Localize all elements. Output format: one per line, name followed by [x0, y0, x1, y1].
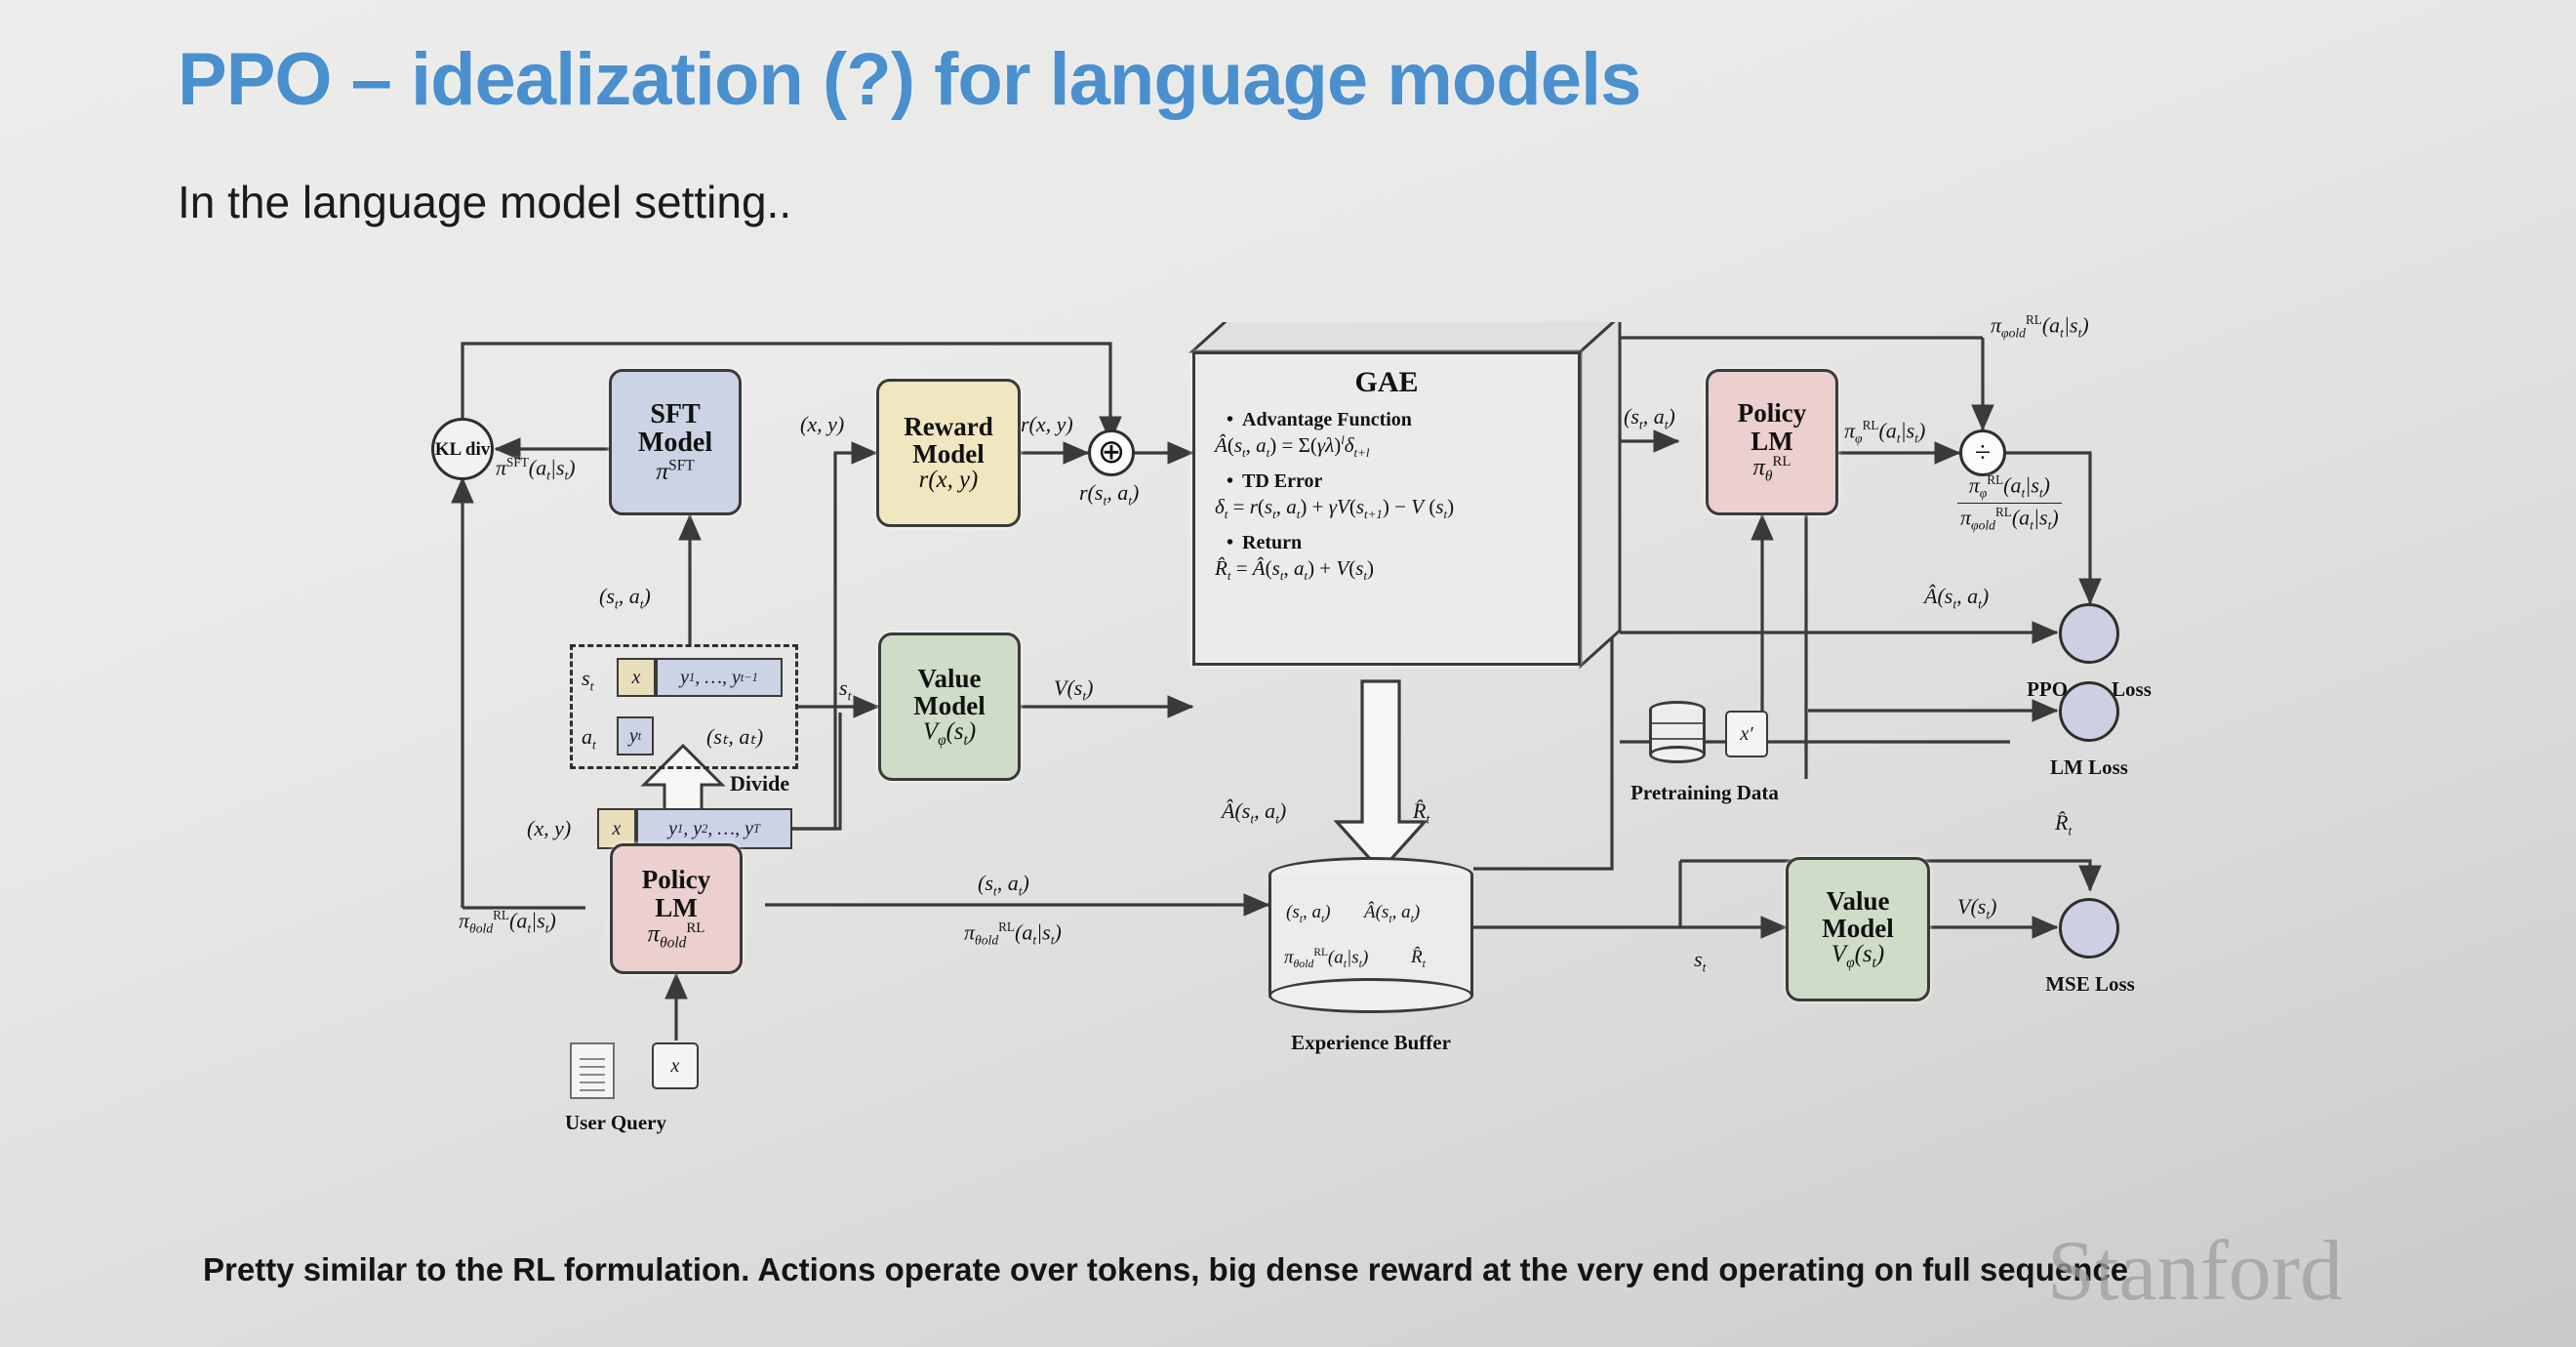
state-prompt-token: x — [617, 658, 656, 697]
edge-label-old-policy-into-divide: πφoldRL(at|st) — [1991, 312, 2089, 342]
edge-label-plus-out: r(st, at) — [1079, 480, 1139, 509]
edge-label-st-to-value-left: st — [839, 675, 851, 704]
ppo-clip-loss-node[interactable] — [2059, 603, 2119, 664]
buffer-row2-right: R̂t — [1411, 947, 1426, 971]
gae-to-buffer-arrow — [1337, 681, 1425, 871]
state-prefix-tokens: y1, …, yt−1 — [656, 658, 783, 697]
pretraining-token: x′ — [1725, 711, 1768, 757]
slide-root: PPO – idealization (?) for language mode… — [0, 0, 2576, 1347]
full-sequence-label: (x, y) — [527, 816, 571, 841]
edge-label-probability-ratio: πφRL(at|st) πφoldRL(at|st) — [1957, 472, 2062, 533]
mse-loss-node[interactable] — [2059, 898, 2119, 959]
page-title: PPO – idealization (?) for language mode… — [178, 37, 1640, 122]
edge-label-advantage-from-gae: Â(st, at) — [1222, 798, 1286, 827]
user-query-token: x — [652, 1042, 699, 1089]
page-subtitle: In the language model setting.. — [178, 176, 791, 228]
edge-label-return-from-gae: R̂t — [1413, 798, 1429, 827]
gae-item-heading: TD Error — [1227, 470, 1566, 493]
slide-caption: Pretty similar to the RL formulation. Ac… — [203, 1251, 2128, 1288]
edge-label-policy-new-out: πφRL(at|st) — [1844, 418, 1925, 447]
edge-label-reward-out: r(x, y) — [1021, 412, 1073, 437]
divide-label: Divide — [730, 771, 789, 796]
edge-label-advantage-to-ppo: Â(st, at) — [1924, 584, 1989, 612]
buffer-row1-right: Â(st, at) — [1364, 902, 1420, 926]
lm-loss-node[interactable] — [2059, 681, 2119, 742]
gae-item-equation: Â(st, at) = Σ(γλ)lδt+l — [1215, 433, 1566, 461]
gae-item-equation: R̂t = Â(st, at) + V(st) — [1215, 556, 1566, 584]
state-label: st — [582, 666, 593, 694]
edge-label-st-at-to-policy-new: (st, at) — [1624, 404, 1675, 432]
edge-label-sft-to-kl: πSFT(at|st) — [496, 455, 576, 484]
edge-label-value-left-out: V(st) — [1054, 675, 1093, 704]
stanford-watermark: Stanford — [2047, 1222, 2343, 1321]
buffer-row2-left: πθoldRL(at|st) — [1284, 947, 1368, 971]
experience-buffer-node[interactable] — [1268, 857, 1473, 1013]
kl-div-node[interactable]: KL div — [431, 418, 494, 480]
sft-model-node[interactable]: SFT Model πSFT — [609, 369, 742, 515]
gae-item-equation: δt = r(st, at) + γV(st+1) − V (st) — [1215, 495, 1566, 522]
experience-buffer-caption: Experience Buffer — [1259, 1031, 1483, 1055]
edge-label-st-to-value-right: st — [1694, 947, 1706, 975]
edge-label-return-to-mse: R̂t — [2055, 810, 2072, 838]
policy-lm-old-node[interactable]: Policy LM πθoldRL — [610, 843, 743, 974]
action-label: at — [582, 724, 596, 753]
ppo-architecture-diagram: KL div SFT Model πSFT Reward Model r(x, … — [0, 322, 2576, 1201]
gae-box[interactable]: GAE Advantage Function Â(st, at) = Σ(γλ… — [1192, 351, 1581, 666]
policy-old-symbol: πθoldRL — [648, 921, 705, 951]
value-fn-symbol-left: Vφ(st) — [923, 719, 976, 749]
edge-label-value-right-out: V(st) — [1957, 894, 1996, 922]
gae-item-heading: Return — [1227, 532, 1566, 554]
reward-model-node[interactable]: Reward Model r(x, y) — [876, 379, 1021, 527]
sum-operator-node: ⊕ — [1088, 429, 1135, 476]
value-model-right-node[interactable]: Value Model Vφ(st) — [1786, 857, 1930, 1001]
gae-item-heading: Advantage Function — [1227, 409, 1566, 431]
edge-label-buffer-in-bottom: πθoldRL(at|st) — [964, 919, 1062, 949]
policy-new-symbol: πθRL — [1752, 455, 1791, 484]
value-model-left-node[interactable]: Value Model Vφ(st) — [878, 633, 1021, 781]
edge-label-old-policy-left: πθoldRL(at|st) — [459, 908, 556, 937]
edge-label-xy-to-reward: (x, y) — [800, 412, 844, 437]
lm-loss-caption: LM Loss — [2018, 755, 2160, 780]
user-query-caption: User Query — [552, 1111, 679, 1135]
state-action-pair-label: (sₜ, aₜ) — [706, 724, 763, 750]
value-fn-symbol-right: Vφ(st) — [1831, 942, 1884, 971]
sft-policy-symbol: πSFT — [656, 458, 695, 484]
user-query-doc-icon — [570, 1042, 615, 1099]
mse-loss-caption: MSE Loss — [2010, 972, 2170, 997]
edge-label-st-at-to-sft: (st, at) — [599, 584, 651, 612]
edge-label-buffer-in-top: (st, at) — [978, 871, 1029, 899]
gae-formula-list: Advantage Function Â(st, at) = Σ(γλ)lδt… — [1213, 409, 1566, 594]
policy-lm-new-node[interactable]: Policy LM πθRL — [1706, 369, 1838, 515]
action-token: yt — [617, 716, 654, 755]
divide-operator-node: ÷ — [1959, 429, 2006, 476]
pretraining-data-node[interactable] — [1649, 701, 1706, 763]
buffer-row1-left: (st, at) — [1286, 902, 1331, 926]
pretraining-data-caption: Pretraining Data — [1612, 781, 1797, 805]
